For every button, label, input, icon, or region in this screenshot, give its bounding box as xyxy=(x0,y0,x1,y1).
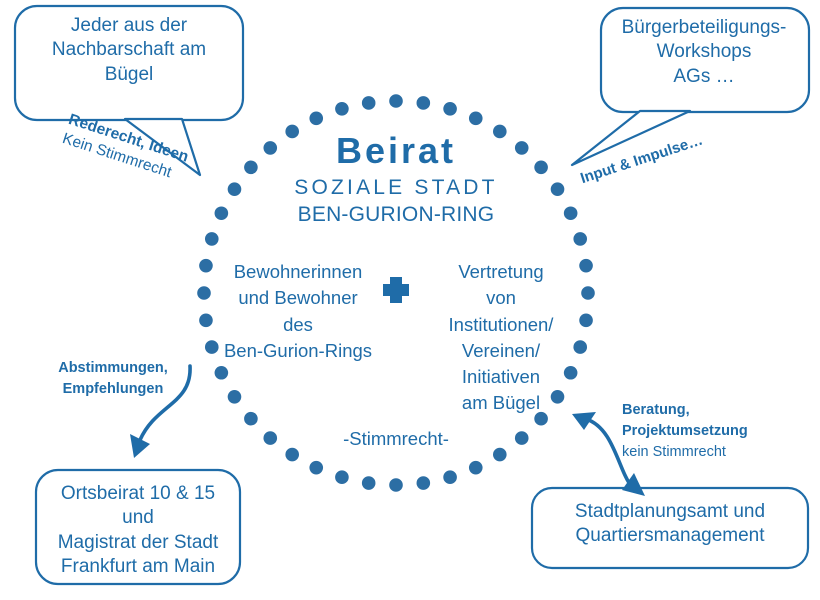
ring-dot xyxy=(564,206,578,220)
callout-bl-line-2: und xyxy=(40,506,236,530)
residents-line-4: Ben-Gurion-Rings xyxy=(209,338,387,364)
callout-br-line-2: Quartiersmanagement xyxy=(536,524,804,548)
ring-dot xyxy=(573,232,587,246)
ring-dot xyxy=(443,470,457,484)
edge-label-abstimmungen-line-2: Empfehlungen xyxy=(38,379,188,400)
edge-label-abstimmungen-line-1: Abstimmungen, xyxy=(38,358,188,379)
residents-line-2: und Bewohner xyxy=(209,285,387,311)
callout-tr-line-2: Workshops xyxy=(606,40,802,64)
ring-dot xyxy=(581,286,595,300)
ring-dot xyxy=(309,461,323,475)
residents-line-3: des xyxy=(209,312,387,338)
ring-dot xyxy=(335,470,349,484)
ring-dot xyxy=(469,112,483,126)
institutions-line-4: Vereinen/ xyxy=(421,338,581,364)
ring-dot xyxy=(309,112,323,126)
ring-dot xyxy=(389,478,403,492)
edge-label-abstimmungen: Abstimmungen, Empfehlungen xyxy=(38,358,188,400)
ring-dot xyxy=(285,448,299,462)
callout-tl-line-2: Nachbarschaft am xyxy=(24,38,234,62)
callout-text-top-left: Jeder aus der Nachbarschaft am Bügel xyxy=(24,14,234,87)
edge-label-beratung: Beratung, Projektumsetzung kein Stimmrec… xyxy=(622,400,794,463)
callout-bl-line-4: Frankfurt am Main xyxy=(40,555,236,579)
ring-dot xyxy=(579,259,593,273)
ring-dot xyxy=(215,206,229,220)
members-column-institutions: Vertretung von Institutionen/ Vereinen/ … xyxy=(421,259,581,417)
ring-dot xyxy=(469,461,483,475)
ring-dot xyxy=(515,431,529,445)
callout-text-top-right: Bürgerbeteiligungs- Workshops AGs … xyxy=(606,16,802,89)
voting-rights-note: -Stimmrecht- xyxy=(306,427,486,451)
institutions-line-6: am Bügel xyxy=(421,390,581,416)
edge-label-beratung-line-3: kein Stimmrecht xyxy=(622,442,794,463)
callout-tr-line-1: Bürgerbeteiligungs- xyxy=(606,16,802,40)
ring-dot xyxy=(362,476,376,490)
institutions-line-3: Institutionen/ xyxy=(421,312,581,338)
callout-text-bottom-right: Stadtplanungsamt und Quartiersmanagement xyxy=(536,500,804,549)
page-title: Beirat xyxy=(236,128,556,174)
ring-dot xyxy=(205,232,219,246)
callout-bl-line-1: Ortsbeirat 10 & 15 xyxy=(40,482,236,506)
ring-dot xyxy=(228,390,242,404)
callout-br-line-1: Stadtplanungsamt und xyxy=(536,500,804,524)
callout-tl-line-3: Bügel xyxy=(24,63,234,87)
ring-dot xyxy=(389,94,403,108)
edge-label-beratung-line-2: Projektumsetzung xyxy=(622,421,794,442)
institutions-line-5: Initiativen xyxy=(421,364,581,390)
callout-tr-line-3: AGs … xyxy=(606,65,802,89)
page-subtitle: SOZIALE STADT xyxy=(236,175,556,202)
ring-dot xyxy=(215,366,229,380)
ring-dot xyxy=(244,412,258,426)
ring-dot xyxy=(417,96,431,110)
page-subtitle-2: BEN-GURION-RING xyxy=(236,202,556,229)
ring-dot xyxy=(362,96,376,110)
members-column-residents: Bewohnerinnen und Bewohner des Ben-Gurio… xyxy=(209,259,387,364)
ring-dot xyxy=(335,102,349,116)
callout-bl-line-3: Magistrat der Stadt xyxy=(40,531,236,555)
ring-dot xyxy=(579,314,593,328)
edge-label-beratung-line-1: Beratung, xyxy=(622,400,794,421)
residents-line-1: Bewohnerinnen xyxy=(209,259,387,285)
ring-dot xyxy=(443,102,457,116)
callout-text-bottom-left: Ortsbeirat 10 & 15 und Magistrat der Sta… xyxy=(40,482,236,579)
ring-dot xyxy=(493,448,507,462)
ring-dot xyxy=(263,431,277,445)
institutions-line-1: Vertretung xyxy=(421,259,581,285)
ring-dot xyxy=(417,476,431,490)
callout-tl-line-1: Jeder aus der xyxy=(24,14,234,38)
institutions-line-2: von xyxy=(421,285,581,311)
diagram-canvas: Jeder aus der Nachbarschaft am Bügel Bür… xyxy=(0,0,820,600)
